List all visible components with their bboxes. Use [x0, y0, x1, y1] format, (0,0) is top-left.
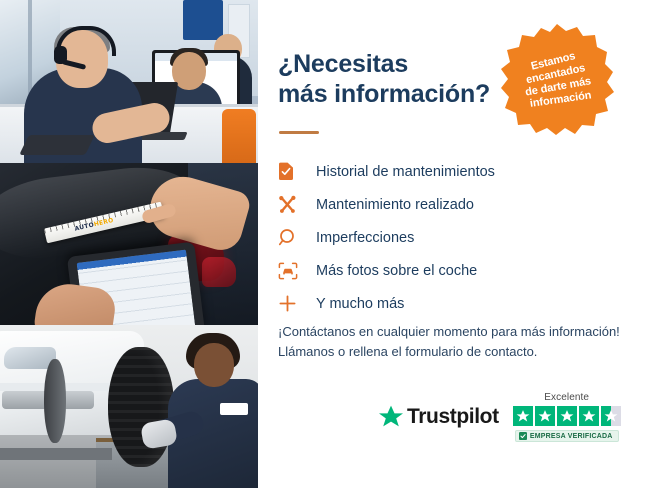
mechanic-head — [194, 343, 234, 387]
tire-tread — [108, 347, 174, 467]
trustpilot-logo: Trustpilot — [378, 404, 499, 430]
feature-item-maintenance-history: Historial de mantenimientos — [278, 155, 628, 188]
feature-item-imperfections: Imperfecciones — [278, 221, 628, 254]
support-badge: Estamos encantados de darte más informac… — [498, 22, 616, 140]
car-inspection-ruler-photo: AUTOHERO — [0, 163, 258, 326]
page-title: ¿Necesitas más información? — [278, 50, 518, 109]
orange-chair — [222, 109, 256, 163]
wall-poster — [183, 0, 223, 40]
feature-label: Más fotos sobre el coche — [316, 263, 477, 279]
contact-paragraph-line-1: ¡Contáctanos en cualquier momento para m… — [278, 322, 638, 342]
contact-paragraph: ¡Contáctanos en cualquier momento para m… — [278, 322, 638, 362]
tools-icon — [278, 194, 304, 216]
title-underline-rule — [279, 131, 319, 134]
car-lift-arm — [0, 448, 112, 460]
trustpilot-score-block: Excelente — [513, 392, 621, 442]
feature-item-more-photos: Más fotos sobre el coche — [278, 254, 628, 287]
badge-content: Estamos encantados de darte más informac… — [488, 12, 626, 150]
car-taillight-inner — [202, 257, 236, 287]
feature-item-maintenance-done: Mantenimiento realizado — [278, 188, 628, 221]
trustpilot-star-5-half — [601, 406, 621, 426]
headline-line-2: más información? — [278, 80, 518, 110]
trustpilot-star-2 — [535, 406, 555, 426]
car-wheel — [108, 347, 174, 467]
trustpilot-rating: Trustpilot Excelente — [378, 386, 640, 448]
headline-line-1: ¿Necesitas — [278, 50, 518, 80]
feature-item-much-more: Y mucho más — [278, 287, 628, 320]
plus-icon — [278, 293, 304, 315]
verified-company-label: EMPRESA VERIFICADA — [530, 433, 613, 440]
feature-label: Imperfecciones — [316, 230, 414, 246]
photo-column: AUTOHERO — [0, 0, 258, 488]
trustpilot-star-4 — [579, 406, 599, 426]
trustpilot-star-1 — [513, 406, 533, 426]
trustpilot-star-icon — [378, 404, 404, 430]
information-promo-poster: AUTOHERO — [0, 0, 650, 488]
trustpilot-stars — [513, 406, 621, 426]
badge-text: Estamos encantados de darte más informac… — [499, 45, 615, 117]
maintenance-history-icon — [278, 161, 304, 183]
verified-check-icon — [519, 432, 527, 440]
desk-tablet — [19, 135, 95, 155]
contact-paragraph-line-2: Llámanos o rellena el formulario de cont… — [278, 342, 638, 362]
mechanic-wheel-photo — [0, 325, 258, 488]
trustpilot-wordmark: Trustpilot — [407, 405, 499, 429]
car-scan-icon — [278, 260, 304, 282]
trustpilot-rating-label: Excelente — [544, 392, 589, 403]
trustpilot-star-3 — [557, 406, 577, 426]
feature-label: Mantenimiento realizado — [316, 197, 474, 213]
mechanic-uniform-logo — [220, 403, 248, 415]
wheel-rim — [44, 359, 66, 443]
content-panel: ¿Necesitas más información? Estamos enca… — [258, 0, 650, 488]
headset-icon — [488, 31, 509, 50]
feature-list: Historial de mantenimientos Mantenimient… — [278, 155, 628, 320]
magnifier-icon — [278, 227, 304, 249]
verified-company-badge: EMPRESA VERIFICADA — [515, 430, 619, 442]
feature-label: Historial de mantenimientos — [316, 164, 495, 180]
feature-label: Y mucho más — [316, 296, 404, 312]
call-center-agents-photo — [0, 0, 258, 163]
